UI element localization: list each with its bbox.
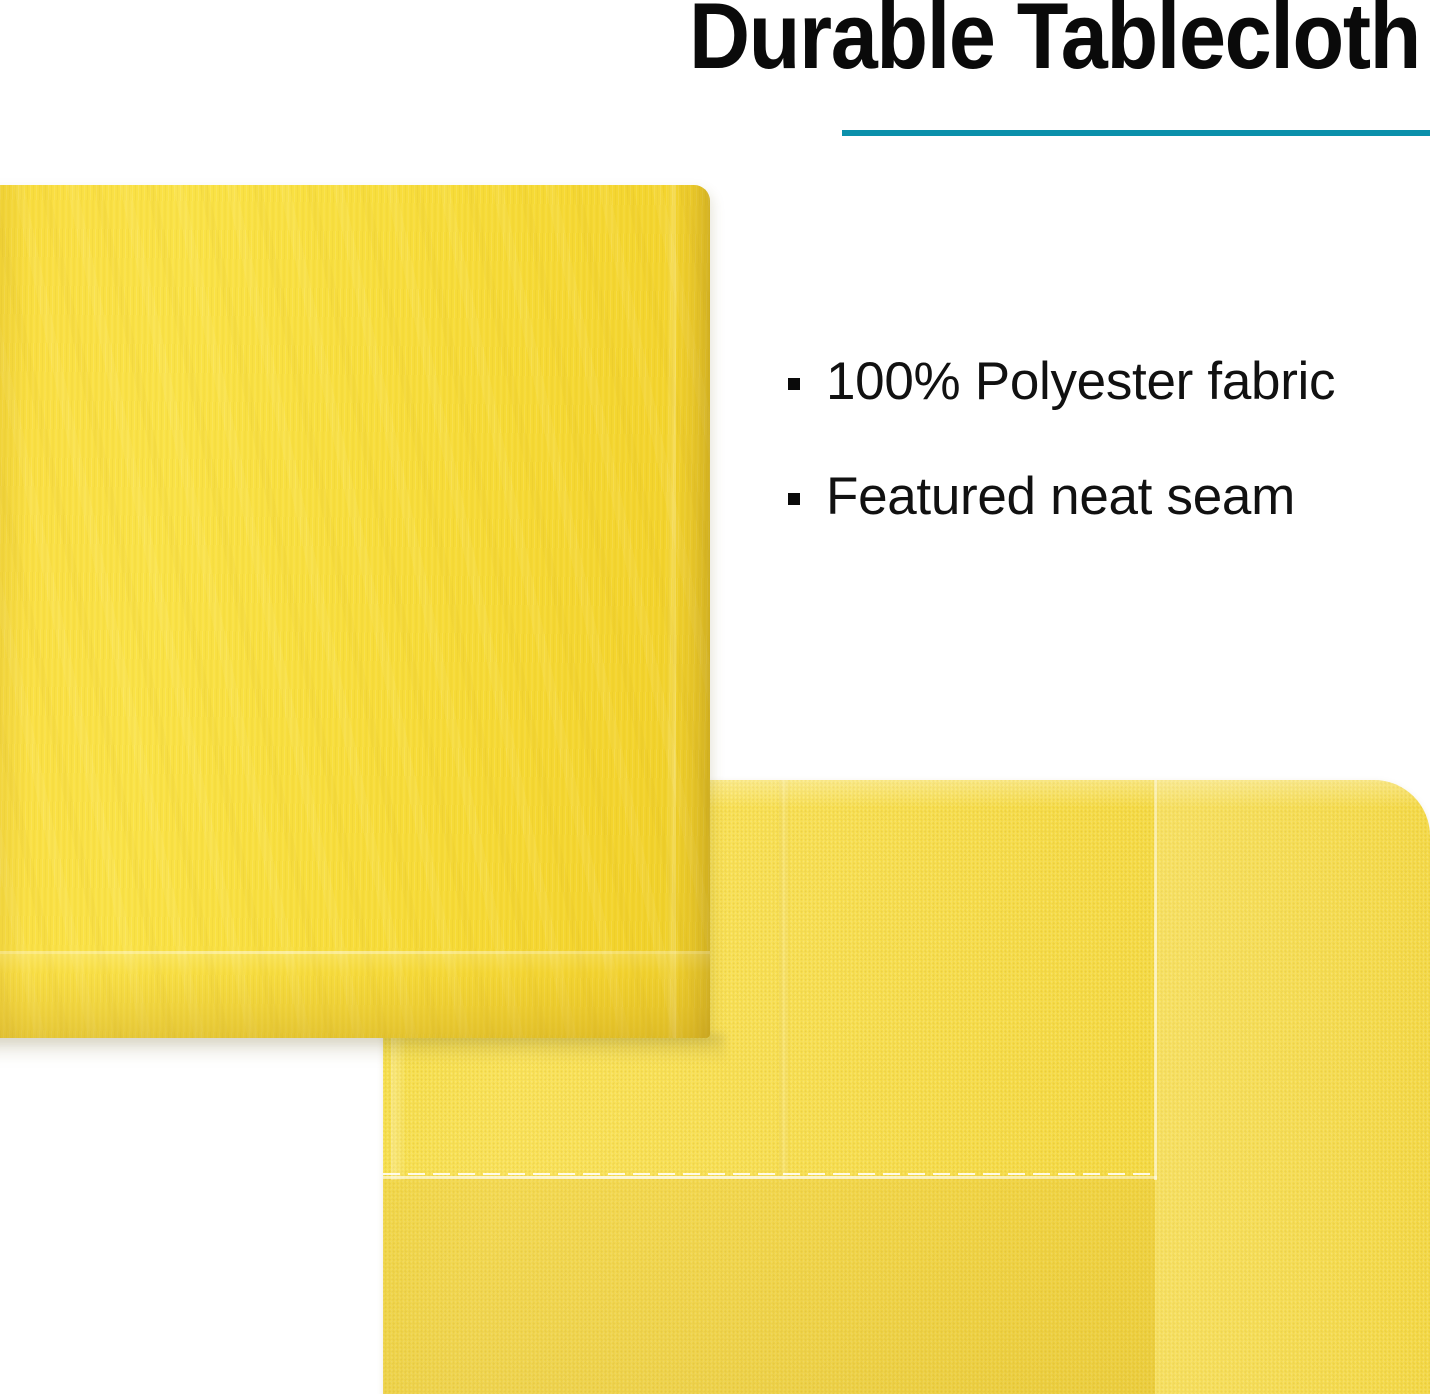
right-edge-highlight: [666, 185, 676, 1038]
tablecloth-folded-stack: [0, 185, 710, 1038]
feature-list: 100% Polyester fabric Featured neat seam: [786, 352, 1430, 582]
page-title: Durable Tablecloth: [502, 0, 1420, 86]
fabric-rib-texture: [0, 185, 710, 1038]
stitching-dashes: [383, 1173, 1157, 1175]
square-bullet-icon: [788, 493, 800, 505]
seam-line-vertical: [1154, 780, 1157, 1180]
feature-label: Featured neat seam: [826, 467, 1295, 527]
list-item: Featured neat seam: [786, 467, 1430, 582]
fold-crease-center: [779, 780, 789, 1180]
left-edge-shading: [0, 185, 28, 1038]
title-divider: [842, 130, 1430, 136]
list-item: 100% Polyester fabric: [786, 352, 1430, 467]
hem-band-bottom: [383, 1178, 1155, 1394]
bottom-fold-band: [0, 954, 710, 1038]
bottom-fold-line: [0, 951, 710, 954]
square-bullet-icon: [788, 378, 800, 390]
feature-label: 100% Polyester fabric: [826, 352, 1335, 412]
seam-line-horizontal: [383, 1176, 1157, 1179]
rolled-right-edge: [676, 185, 710, 1038]
fabric-sheen: [0, 185, 710, 1038]
product-infographic: Durable Tablecloth 100% Polyester fabric…: [0, 0, 1430, 1394]
hem-band-right: [1155, 780, 1430, 1394]
